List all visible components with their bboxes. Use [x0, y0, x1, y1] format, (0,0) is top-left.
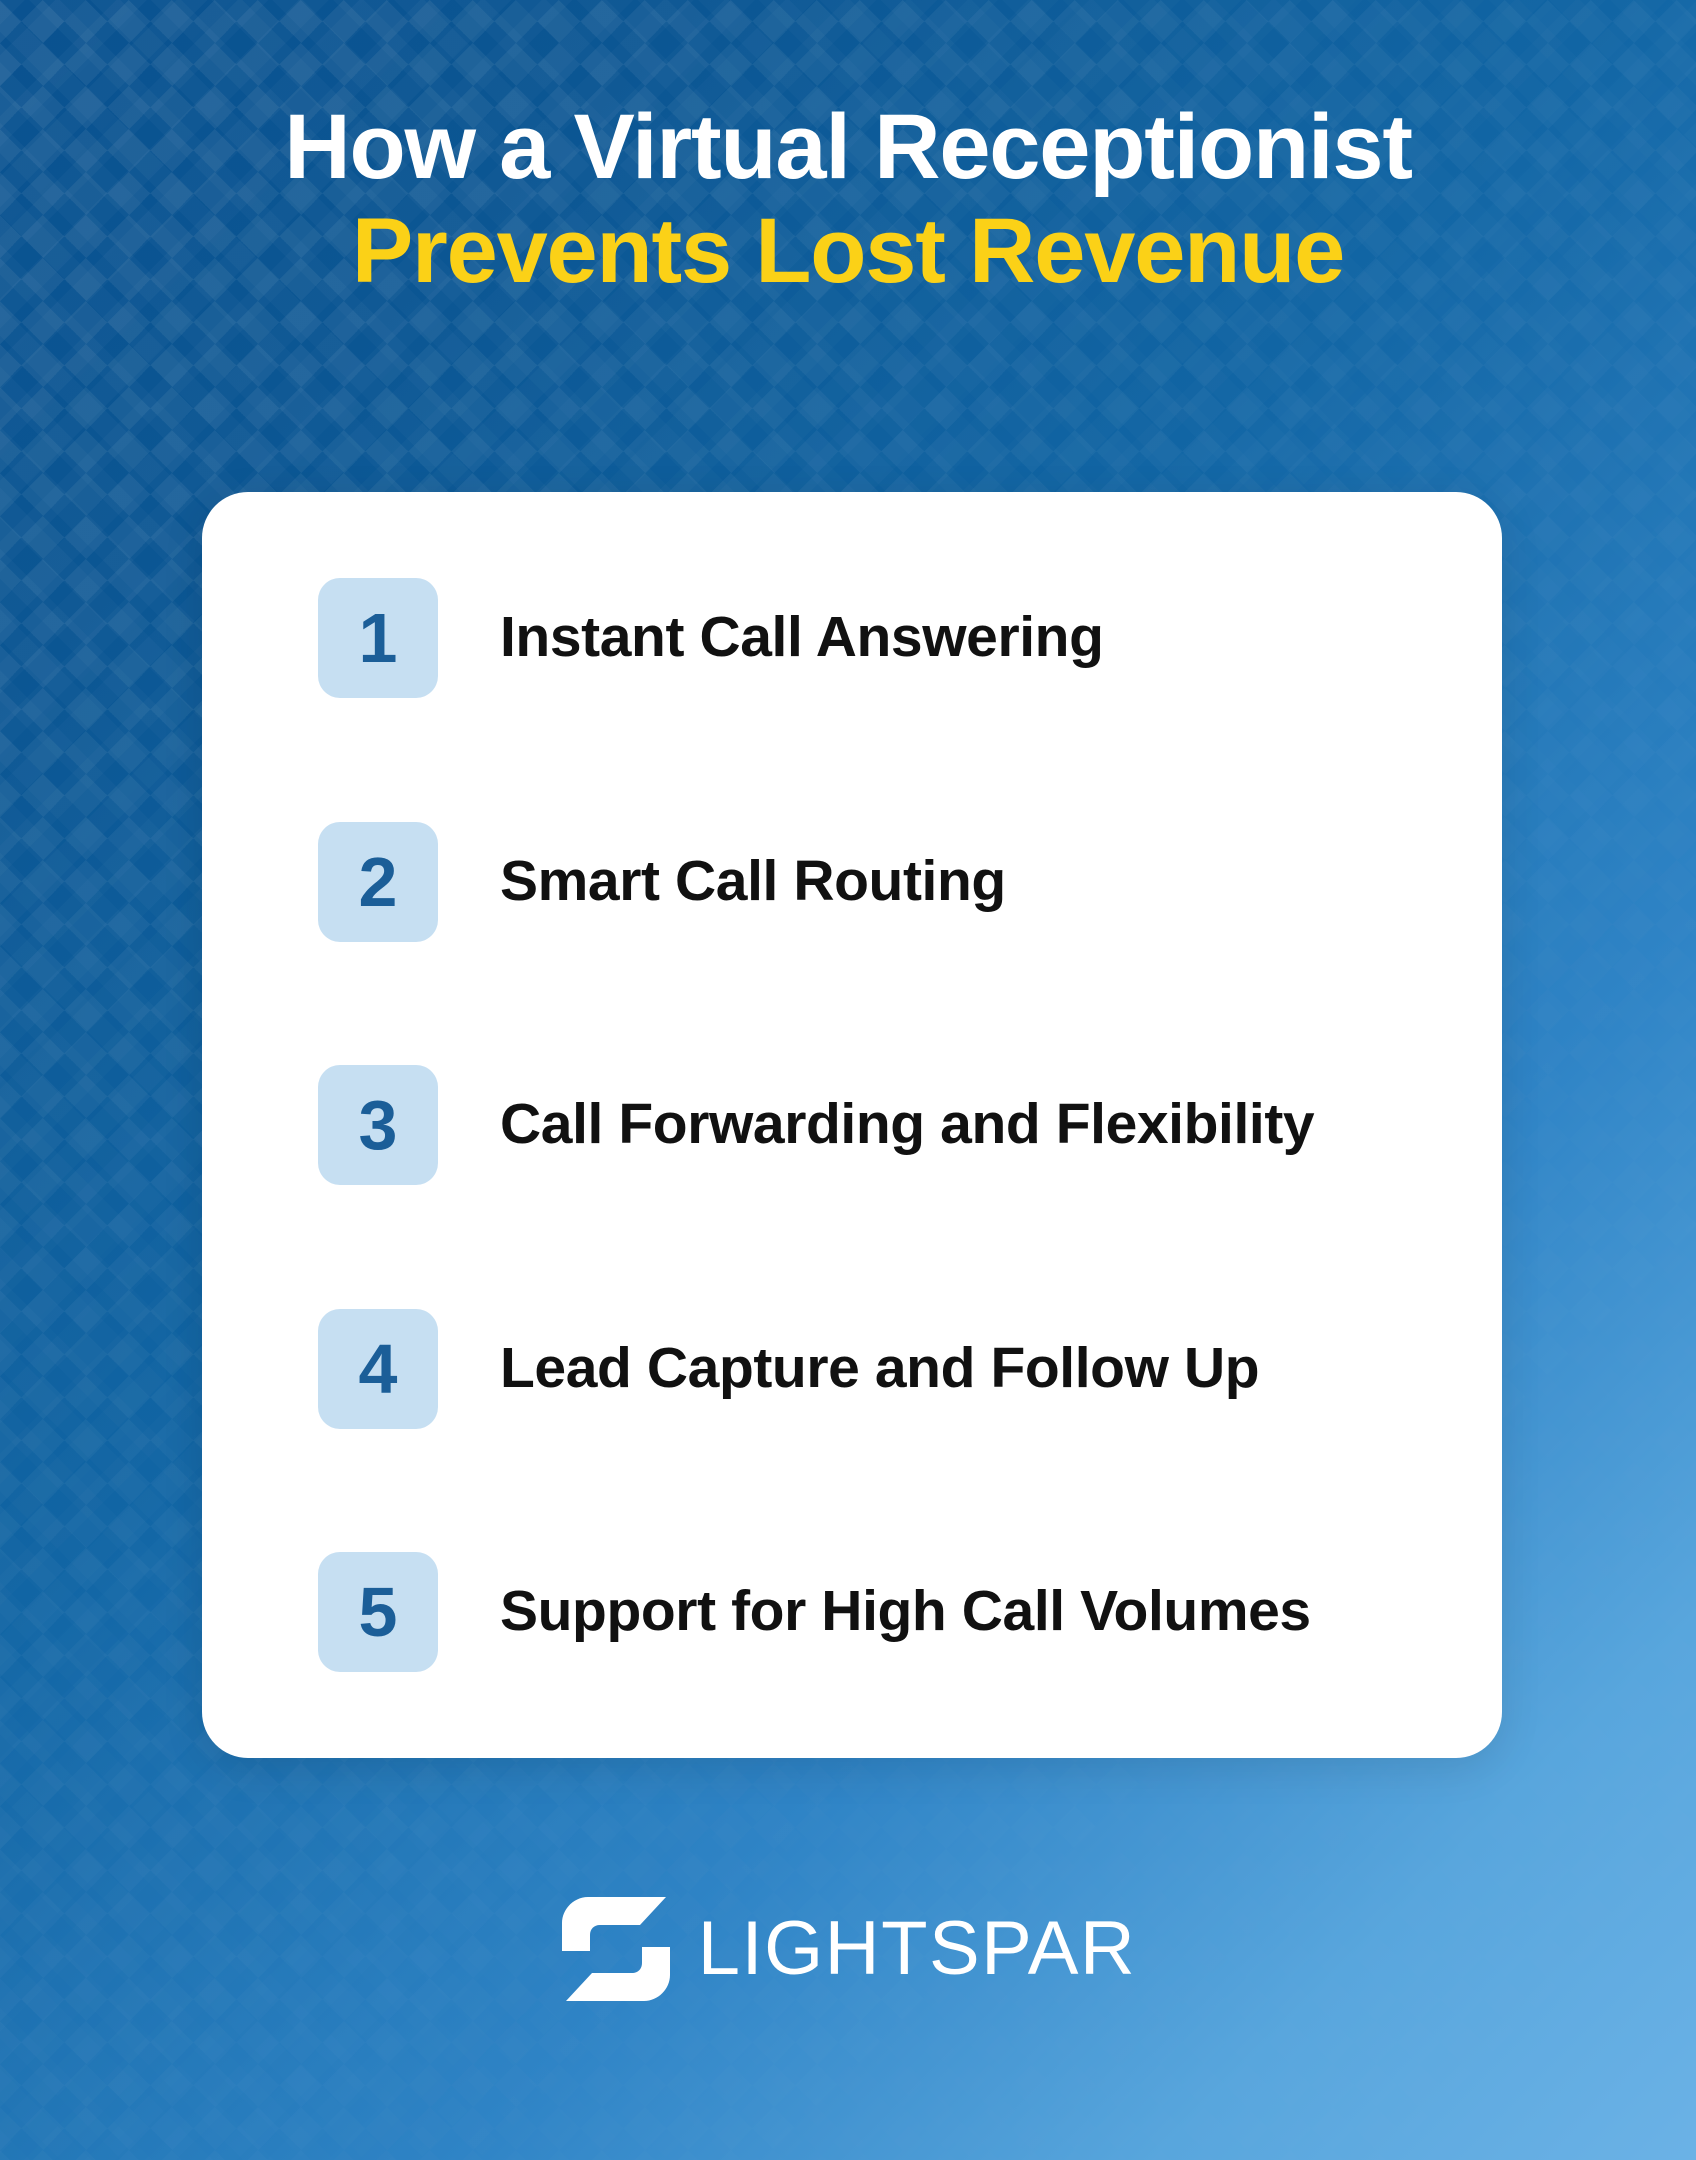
list-item-number-badge: 4: [318, 1309, 438, 1429]
title-line-accent: Prevents Lost Revenue: [60, 200, 1636, 304]
lightspar-s-mark-icon: [560, 1895, 672, 2003]
list-item-label: Support for High Call Volumes: [500, 1579, 1311, 1645]
list-item: 4 Lead Capture and Follow Up: [202, 1309, 1502, 1429]
list-item: 5 Support for High Call Volumes: [202, 1552, 1502, 1672]
page-title: How a Virtual Receptionist Prevents Lost…: [0, 96, 1696, 304]
list-item-number-badge: 1: [318, 578, 438, 698]
list-item: 3 Call Forwarding and Flexibility: [202, 1065, 1502, 1185]
list-item-label: Call Forwarding and Flexibility: [500, 1092, 1314, 1158]
list-item-label: Lead Capture and Follow Up: [500, 1336, 1259, 1402]
list-item-label: Smart Call Routing: [500, 849, 1006, 915]
list-item-number-badge: 2: [318, 822, 438, 942]
list-item-label: Instant Call Answering: [500, 605, 1104, 671]
title-line-primary: How a Virtual Receptionist: [60, 96, 1636, 200]
benefits-list: 1 Instant Call Answering 2 Smart Call Ro…: [202, 574, 1502, 1676]
list-item-number-badge: 3: [318, 1065, 438, 1185]
benefits-card: 1 Instant Call Answering 2 Smart Call Ro…: [202, 492, 1502, 1758]
list-item: 1 Instant Call Answering: [202, 578, 1502, 698]
list-item-number-badge: 5: [318, 1552, 438, 1672]
logo-wordmark: LIGHTSPAR: [698, 1911, 1137, 1987]
list-item: 2 Smart Call Routing: [202, 822, 1502, 942]
infographic-poster: How a Virtual Receptionist Prevents Lost…: [0, 0, 1696, 2160]
brand-logo: LIGHTSPAR: [0, 1895, 1696, 2003]
